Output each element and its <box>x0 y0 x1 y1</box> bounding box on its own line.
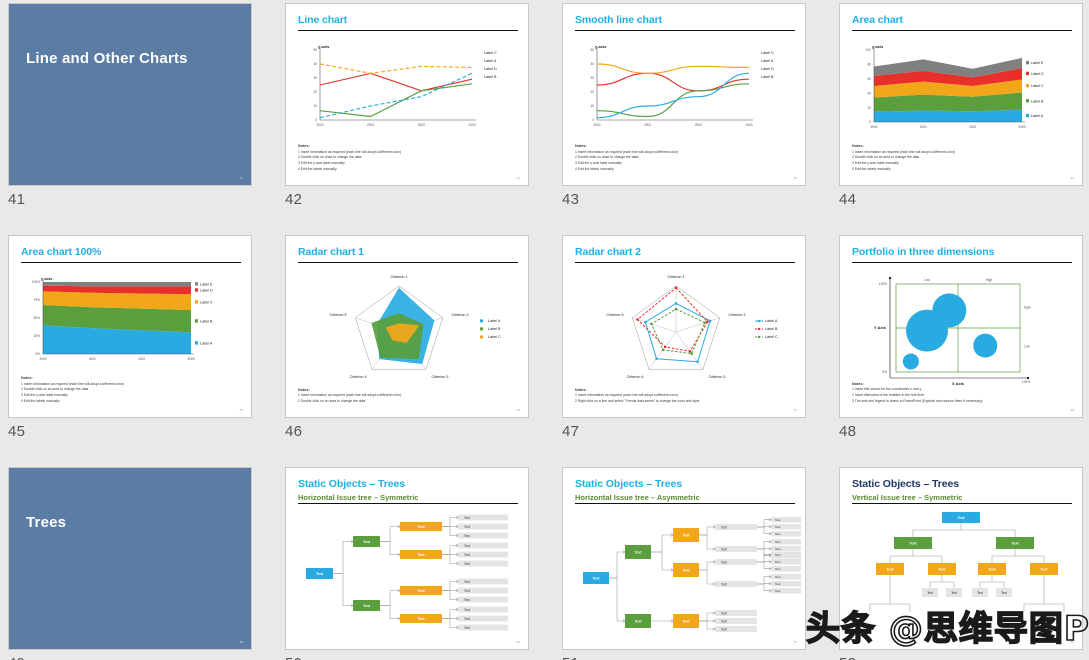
slide-thumbnail-52[interactable]: Static Objects – TreesVertical Issue tre… <box>839 467 1083 650</box>
slide-cell: Radar chart 247Criterion 1Criterion 2Cri… <box>562 235 839 467</box>
slide-cell: Trees4949 <box>8 467 285 660</box>
svg-text:Text: Text <box>464 553 470 557</box>
notes-line: 4 Edit the labels manually <box>852 167 1037 173</box>
svg-text:Label C: Label C <box>1031 84 1044 88</box>
slide-number-label: 49 <box>8 655 25 660</box>
title-rule <box>852 30 1072 31</box>
slide-page-number: 48 <box>1071 408 1074 412</box>
title-rule <box>575 262 795 263</box>
slide-cell: Line chart42y-axis0102030405020002001200… <box>285 3 562 235</box>
notes-line: 2 Right click on a line and select "Form… <box>575 399 760 405</box>
svg-text:10: 10 <box>313 104 317 108</box>
slide-page-number: 52 <box>1071 640 1074 644</box>
svg-text:Text: Text <box>721 627 727 631</box>
notes-line: 2 Double click on an area to change the … <box>298 399 483 405</box>
notes-block: Notes:1 Insert title values for the coor… <box>852 382 1037 405</box>
svg-text:Text: Text <box>1040 568 1048 572</box>
svg-text:Label A: Label A <box>488 319 501 323</box>
svg-text:Label A: Label A <box>200 341 213 345</box>
slide-cell: Static Objects – TreesHorizontal Issue t… <box>562 467 839 660</box>
svg-text:Text: Text <box>938 568 946 572</box>
svg-text:0%: 0% <box>882 370 887 374</box>
tree-vertical-symmetric-svg: TextTextTextTextTextTextTextTextTextText… <box>854 508 1074 633</box>
svg-text:0: 0 <box>869 120 871 124</box>
svg-text:Text: Text <box>721 560 727 564</box>
svg-text:Label B: Label B <box>761 75 774 79</box>
slide-title: Static Objects – Trees <box>298 478 405 490</box>
svg-text:2003: 2003 <box>745 123 752 127</box>
notes-line: 3 The axis and legend is drawn in PowerP… <box>852 399 1037 405</box>
svg-text:Text: Text <box>775 582 781 586</box>
title-rule <box>575 503 795 504</box>
svg-text:50%: 50% <box>34 316 41 320</box>
notes-heading: Notes: <box>852 144 1037 148</box>
svg-text:Text: Text <box>417 525 425 529</box>
slide-title: Static Objects – Trees <box>852 478 959 490</box>
svg-text:Text: Text <box>951 591 957 595</box>
svg-text:Text: Text <box>775 567 781 571</box>
svg-text:Text: Text <box>363 540 371 544</box>
svg-text:Text: Text <box>464 626 470 630</box>
svg-text:Criterion 4: Criterion 4 <box>350 375 367 379</box>
divider-title: Trees <box>26 514 66 531</box>
svg-text:Label D: Label D <box>761 67 774 71</box>
notes-heading: Notes: <box>298 144 483 148</box>
svg-text:30: 30 <box>313 76 317 80</box>
svg-text:0: 0 <box>315 118 317 122</box>
radar-chart-svg: Criterion 1Criterion 2Criterion 3Criteri… <box>294 270 524 390</box>
svg-text:Criterion 3: Criterion 3 <box>431 375 448 379</box>
slide-title: Line chart <box>298 14 347 26</box>
svg-text:50: 50 <box>590 48 594 52</box>
svg-text:2003: 2003 <box>187 357 194 361</box>
svg-text:Text: Text <box>988 568 996 572</box>
title-rule <box>298 262 518 263</box>
notes-block: Notes:1 Insert information as required (… <box>21 376 206 405</box>
title-rule <box>21 262 241 263</box>
svg-text:2000: 2000 <box>39 357 46 361</box>
slide-thumbnail-44[interactable]: Area chart44y-axis0204060801002000200120… <box>839 3 1083 186</box>
svg-text:Text: Text <box>464 516 470 520</box>
svg-text:Y Axis: Y Axis <box>874 325 887 330</box>
svg-text:40: 40 <box>313 62 317 66</box>
slide-thumbnail-47[interactable]: Radar chart 247Criterion 1Criterion 2Cri… <box>562 235 806 418</box>
svg-text:2003: 2003 <box>1018 125 1025 129</box>
title-rule <box>852 262 1072 263</box>
svg-text:Text: Text <box>721 619 727 623</box>
svg-text:Text: Text <box>775 589 781 593</box>
svg-text:Text: Text <box>682 534 690 538</box>
notes-line: 4 Edit the labels manually <box>575 167 760 173</box>
svg-text:40: 40 <box>867 91 871 95</box>
svg-text:Text: Text <box>721 525 727 529</box>
notes-block: Notes:1 Insert information as required (… <box>575 144 760 173</box>
svg-text:30: 30 <box>590 76 594 80</box>
svg-text:Label A: Label A <box>765 319 778 323</box>
svg-text:Text: Text <box>909 542 917 546</box>
svg-text:Text: Text <box>721 547 727 551</box>
title-rule <box>298 503 518 504</box>
notes-line: 4 Edit the labels manually <box>21 399 206 405</box>
svg-text:Text: Text <box>464 598 470 602</box>
slide-page-number: 42 <box>517 176 520 180</box>
svg-text:Criterion 5: Criterion 5 <box>329 313 346 317</box>
svg-text:100: 100 <box>866 48 872 52</box>
slide-title: Area chart 100% <box>21 246 101 258</box>
slide-number-label: 45 <box>8 423 25 440</box>
slide-title: Smooth line chart <box>575 14 662 26</box>
svg-text:Text: Text <box>464 525 470 529</box>
notes-line: 4 Edit the labels manually <box>298 167 483 173</box>
svg-text:Label B: Label B <box>484 75 497 79</box>
svg-text:2002: 2002 <box>418 123 425 127</box>
svg-text:2002: 2002 <box>138 357 145 361</box>
svg-text:Text: Text <box>775 547 781 551</box>
divider-title: Line and Other Charts <box>26 50 188 67</box>
slide-cell: Radar chart 146Criterion 1Criterion 2Cri… <box>285 235 562 467</box>
slide-thumbnail-45[interactable]: Area chart 100%45y-axis0%25%50%75%100%20… <box>8 235 252 418</box>
svg-text:Label D: Label D <box>484 67 497 71</box>
svg-text:Label B: Label B <box>488 327 501 331</box>
slide-cell: Area chart44y-axis0204060801002000200120… <box>839 3 1089 235</box>
svg-text:Text: Text <box>957 516 965 520</box>
slide-cell: Smooth line chart43y-axis010203040502000… <box>562 3 839 235</box>
svg-text:Text: Text <box>775 560 781 564</box>
svg-text:Text: Text <box>634 620 642 624</box>
notes-block: Notes:1 Insert information as required (… <box>575 388 760 405</box>
svg-text:2001: 2001 <box>920 125 927 129</box>
svg-text:2003: 2003 <box>468 123 475 127</box>
slide-cell: Portfolio in three dimensions48LowHighHi… <box>839 235 1089 467</box>
svg-text:Text: Text <box>682 569 690 573</box>
svg-text:Text: Text <box>927 591 933 595</box>
svg-text:Label A: Label A <box>1031 114 1044 118</box>
svg-text:Label B: Label B <box>1031 99 1044 103</box>
svg-text:50: 50 <box>313 48 317 52</box>
svg-text:Criterion 2: Criterion 2 <box>451 313 468 317</box>
svg-text:High: High <box>1024 306 1031 310</box>
slide-subtitle: Vertical Issue tree – Symmetric <box>852 493 962 502</box>
area-chart-svg: y-axis0204060801002000200120022003Label … <box>856 44 1056 139</box>
svg-text:Text: Text <box>592 577 600 581</box>
svg-text:Text: Text <box>886 568 894 572</box>
slide-thumbnail-grid: Line and Other Charts4141Line chart42y-a… <box>0 0 1089 660</box>
slide-number-label: 41 <box>8 191 25 208</box>
svg-text:Label C: Label C <box>765 335 778 339</box>
svg-text:2001: 2001 <box>367 123 374 127</box>
svg-text:80: 80 <box>867 63 871 67</box>
svg-text:60: 60 <box>867 77 871 81</box>
slide-thumbnail-46[interactable]: Radar chart 146Criterion 1Criterion 2Cri… <box>285 235 529 418</box>
svg-text:2002: 2002 <box>695 123 702 127</box>
slide-number-label: 44 <box>839 191 856 208</box>
svg-text:Label B: Label B <box>765 327 778 331</box>
svg-text:Text: Text <box>316 572 324 576</box>
svg-text:20: 20 <box>867 106 871 110</box>
svg-text:75%: 75% <box>34 298 41 302</box>
notes-heading: Notes: <box>298 388 483 392</box>
slide-number-label: 43 <box>562 191 579 208</box>
svg-text:Label C: Label C <box>761 51 774 55</box>
slide-page-number: 47 <box>794 408 797 412</box>
svg-text:Label B: Label B <box>200 319 213 323</box>
svg-text:100%: 100% <box>879 282 887 286</box>
svg-text:Label A: Label A <box>761 59 774 63</box>
slide-cell: Static Objects – TreesVertical Issue tre… <box>839 467 1089 660</box>
notes-heading: Notes: <box>852 382 1037 386</box>
svg-text:Label D: Label D <box>200 288 213 292</box>
slide-page-number: 49 <box>240 640 243 644</box>
svg-text:Text: Text <box>775 525 781 529</box>
svg-text:Text: Text <box>464 544 470 548</box>
slide-page-number: 45 <box>240 408 243 412</box>
svg-text:Label A: Label A <box>484 59 497 63</box>
slide-page-number: 41 <box>240 176 243 180</box>
svg-text:20: 20 <box>590 90 594 94</box>
svg-text:Low: Low <box>924 278 931 282</box>
notes-heading: Notes: <box>575 144 760 148</box>
svg-text:High: High <box>986 278 993 282</box>
slide-title: Radar chart 1 <box>298 246 364 258</box>
slide-number-label: 42 <box>285 191 302 208</box>
tree-horizontal-symmetric-svg: TextTextTextTextTextTextTextTextTextText… <box>298 508 523 643</box>
svg-text:Criterion 3: Criterion 3 <box>708 375 725 379</box>
line-chart-svg: y-axis010203040502000200120022003Label C… <box>304 44 504 134</box>
svg-text:2000: 2000 <box>870 125 877 129</box>
radar-chart-svg: Criterion 1Criterion 2Criterion 3Criteri… <box>571 270 801 390</box>
svg-text:Label C: Label C <box>484 51 497 55</box>
svg-text:100%: 100% <box>32 280 40 284</box>
svg-text:Text: Text <box>721 611 727 615</box>
svg-text:Criterion 1: Criterion 1 <box>667 275 684 279</box>
svg-text:Text: Text <box>464 617 470 621</box>
svg-text:Text: Text <box>775 553 781 557</box>
slide-thumbnail-50[interactable]: Static Objects – TreesHorizontal Issue t… <box>285 467 529 650</box>
svg-text:Label D: Label D <box>1031 72 1044 76</box>
slide-number-label: 50 <box>285 655 302 660</box>
svg-text:Text: Text <box>775 518 781 522</box>
svg-text:Low: Low <box>1024 344 1031 348</box>
slide-thumbnail-49[interactable]: Trees49 <box>8 467 252 650</box>
svg-text:2002: 2002 <box>969 125 976 129</box>
slide-number-label: 47 <box>562 423 579 440</box>
svg-text:Text: Text <box>464 534 470 538</box>
tree-horizontal-asymmetric-svg: TextTextTextTextTextTextTextTextTextText… <box>575 508 803 648</box>
svg-text:Text: Text <box>363 604 371 608</box>
svg-text:Text: Text <box>721 582 727 586</box>
svg-text:Text: Text <box>634 551 642 555</box>
slide-subtitle: Horizontal Issue tree – Asymmetric <box>575 493 700 502</box>
slide-cell: Area chart 100%45y-axis0%25%50%75%100%20… <box>8 235 285 467</box>
slide-thumbnail-48[interactable]: Portfolio in three dimensions48LowHighHi… <box>839 235 1083 418</box>
area-chart-svg: y-axis0%25%50%75%100%2000200120022003Lab… <box>25 276 225 371</box>
svg-text:Text: Text <box>775 540 781 544</box>
svg-text:Text: Text <box>977 591 983 595</box>
svg-text:Text: Text <box>417 553 425 557</box>
slide-thumbnail-41[interactable]: Line and Other Charts41 <box>8 3 252 186</box>
notes-block: Notes:1 Insert information as required (… <box>298 388 483 405</box>
slide-subtitle: Horizontal Issue tree – Symmetric <box>298 493 418 502</box>
slide-page-number: 46 <box>517 408 520 412</box>
line-chart-svg: y-axis010203040502000200120022003Label C… <box>581 44 781 134</box>
slide-cell: Line and Other Charts4141 <box>8 3 285 235</box>
svg-text:Text: Text <box>464 608 470 612</box>
notes-block: Notes:1 Insert information as required (… <box>298 144 483 173</box>
slide-page-number: 43 <box>794 176 797 180</box>
slide-title: Static Objects – Trees <box>575 478 682 490</box>
svg-text:2001: 2001 <box>89 357 96 361</box>
svg-text:Label C: Label C <box>488 335 501 339</box>
slide-number-label: 48 <box>839 423 856 440</box>
slide-thumbnail-42[interactable]: Line chart42y-axis0102030405020002001200… <box>285 3 529 186</box>
svg-text:Label E: Label E <box>1031 61 1044 65</box>
svg-text:Criterion 4: Criterion 4 <box>627 375 644 379</box>
slide-cell: Static Objects – TreesHorizontal Issue t… <box>285 467 562 660</box>
svg-text:Text: Text <box>464 562 470 566</box>
slide-number-label: 52 <box>839 655 856 660</box>
bubble-matrix-svg: LowHighHighLow100%0%100%Y AxisX Axis <box>868 272 1068 387</box>
slide-page-number: 44 <box>1071 176 1074 180</box>
slide-thumbnail-51[interactable]: Static Objects – TreesHorizontal Issue t… <box>562 467 806 650</box>
svg-text:Criterion 5: Criterion 5 <box>606 313 623 317</box>
svg-text:Text: Text <box>1001 591 1007 595</box>
slide-title: Radar chart 2 <box>575 246 641 258</box>
svg-text:10: 10 <box>590 104 594 108</box>
slide-title: Portfolio in three dimensions <box>852 246 994 258</box>
slide-thumbnail-43[interactable]: Smooth line chart43y-axis010203040502000… <box>562 3 806 186</box>
svg-text:Label E: Label E <box>200 282 213 286</box>
svg-text:2001: 2001 <box>644 123 651 127</box>
title-rule <box>575 30 795 31</box>
svg-text:Criterion 2: Criterion 2 <box>728 313 745 317</box>
slide-number-label: 46 <box>285 423 302 440</box>
svg-text:Text: Text <box>1011 542 1019 546</box>
title-rule <box>298 30 518 31</box>
slide-number-label: 51 <box>562 655 579 660</box>
notes-heading: Notes: <box>21 376 206 380</box>
svg-text:Text: Text <box>417 617 425 621</box>
slide-title: Area chart <box>852 14 903 26</box>
svg-text:Text: Text <box>417 589 425 593</box>
notes-heading: Notes: <box>575 388 760 392</box>
notes-block: Notes:1 Insert information as required (… <box>852 144 1037 173</box>
svg-text:25%: 25% <box>34 334 41 338</box>
svg-text:2000: 2000 <box>316 123 323 127</box>
svg-text:Label C: Label C <box>200 300 213 304</box>
svg-text:Text: Text <box>775 532 781 536</box>
svg-text:20: 20 <box>313 90 317 94</box>
svg-text:0: 0 <box>592 118 594 122</box>
svg-text:0%: 0% <box>35 352 40 356</box>
svg-text:Text: Text <box>682 620 690 624</box>
svg-text:Text: Text <box>775 575 781 579</box>
svg-text:2000: 2000 <box>593 123 600 127</box>
svg-text:Text: Text <box>464 589 470 593</box>
title-rule <box>852 503 1072 504</box>
svg-text:40: 40 <box>590 62 594 66</box>
svg-text:Text: Text <box>464 580 470 584</box>
svg-text:Criterion 1: Criterion 1 <box>390 275 407 279</box>
